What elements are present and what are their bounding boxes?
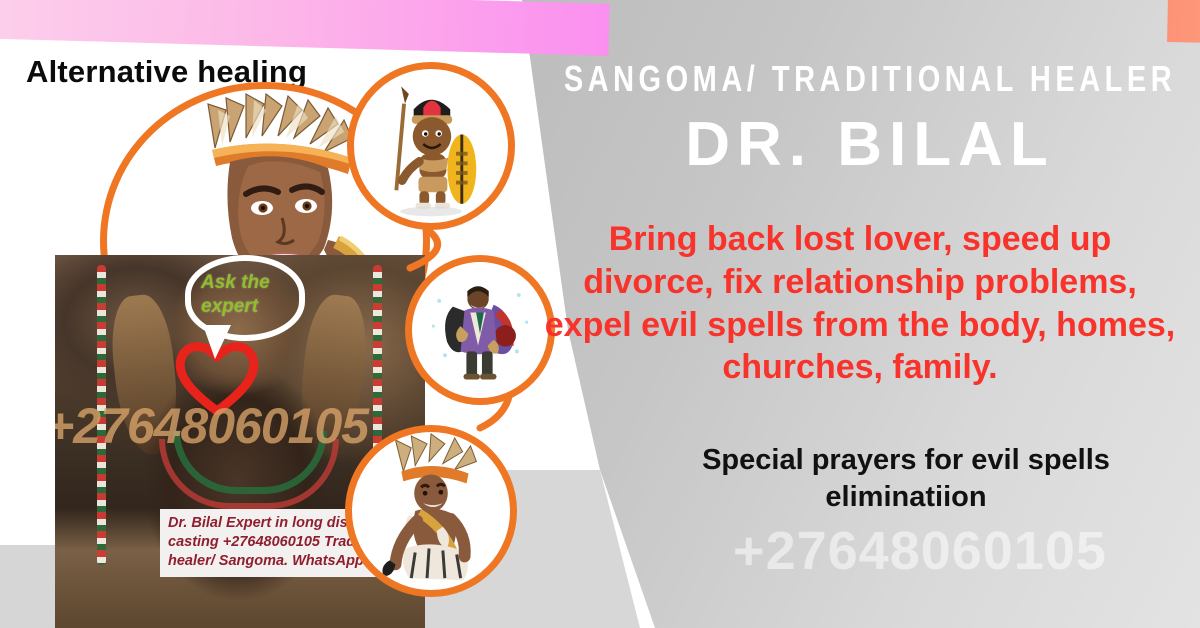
poster-canvas: Alternative healing xyxy=(0,0,1200,628)
circle-image-dancer xyxy=(345,425,517,597)
speech-bubble: Ask the expert xyxy=(185,255,305,341)
kneeling-dancer-icon xyxy=(352,432,510,590)
grey-strip-bottom-left xyxy=(0,545,60,628)
healer-name: DR. BILAL xyxy=(560,112,1180,177)
speech-bubble-text: Ask the expert xyxy=(201,271,297,319)
zulu-warrior-cartoon-icon xyxy=(354,69,508,223)
special-prayers-text: Special prayers for evil spells eliminat… xyxy=(616,442,1196,516)
speech-bubble-line-1: Ask the xyxy=(201,271,297,295)
circle-image-warrior xyxy=(347,62,515,230)
special-prayers-line-2: eliminatiion xyxy=(616,479,1196,516)
special-prayers-line-1: Special prayers for evil spells xyxy=(616,442,1196,479)
pink-gradient-bar xyxy=(0,0,610,56)
services-text: Bring back lost lover, speed up divorce,… xyxy=(540,218,1180,389)
phone-watermark: +27648060105 xyxy=(640,524,1200,578)
speech-bubble-line-2: expert xyxy=(201,295,297,319)
kicker-heading: SANGOMA/ TRADITIONAL HEALER xyxy=(560,62,1180,98)
orange-gradient-bar xyxy=(1167,0,1200,47)
robed-healer-icon xyxy=(412,262,548,398)
circle-image-robed-healer xyxy=(405,255,555,405)
